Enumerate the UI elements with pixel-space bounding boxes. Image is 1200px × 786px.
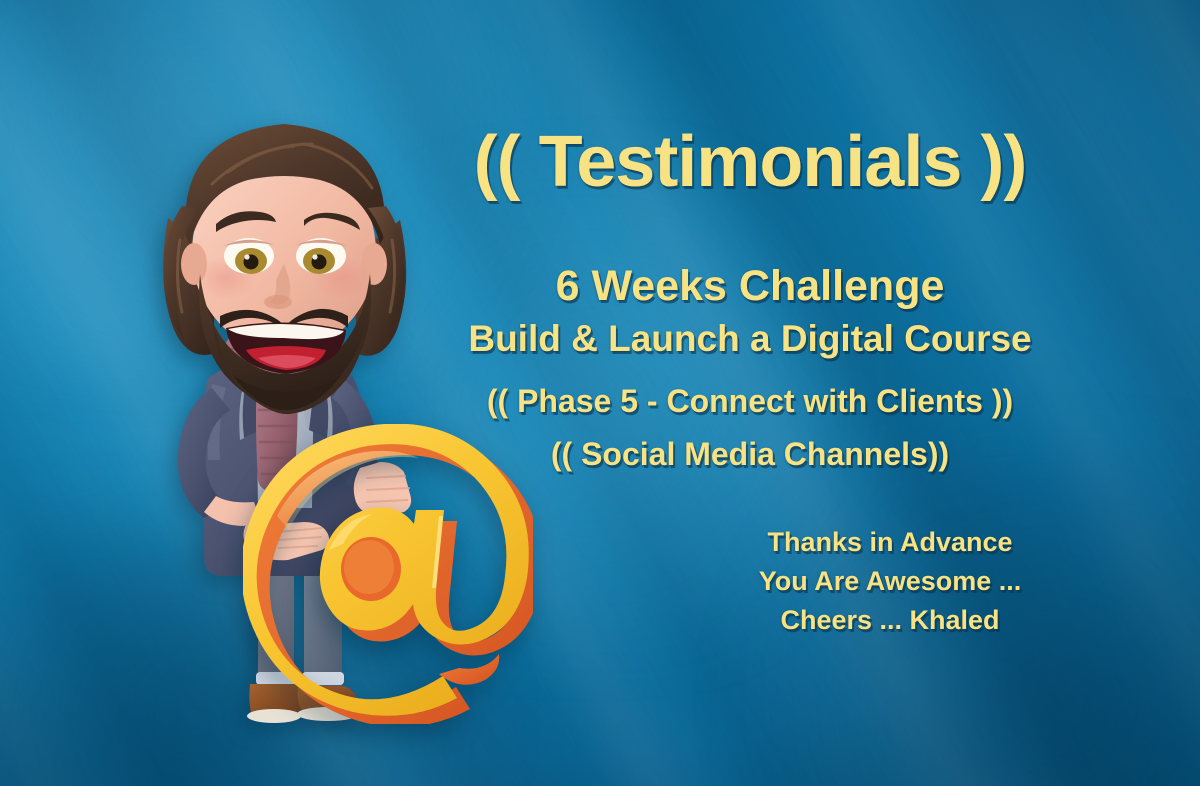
signoff-block: Thanks in Advance You Are Awesome ... Ch… xyxy=(690,523,1090,640)
testimonials-slide: (( Testimonials )) 6 Weeks Challenge Bui… xyxy=(0,0,1200,786)
signoff-line-2: You Are Awesome ... xyxy=(690,562,1090,601)
subtitle-line-1: 6 Weeks Challenge xyxy=(400,265,1100,309)
phase-line-1: (( Phase 5 - Connect with Clients )) xyxy=(400,385,1100,419)
phase-line-2: (( Social Media Channels)) xyxy=(400,438,1100,472)
text-column: (( Testimonials )) 6 Weeks Challenge Bui… xyxy=(400,0,1140,786)
page-title: (( Testimonials )) xyxy=(400,126,1100,198)
subtitle-line-2: Build & Launch a Digital Course xyxy=(400,320,1100,358)
signoff-line-3: Cheers ... Khaled xyxy=(690,601,1090,640)
signoff-line-1: Thanks in Advance xyxy=(690,523,1090,562)
head xyxy=(163,124,406,414)
